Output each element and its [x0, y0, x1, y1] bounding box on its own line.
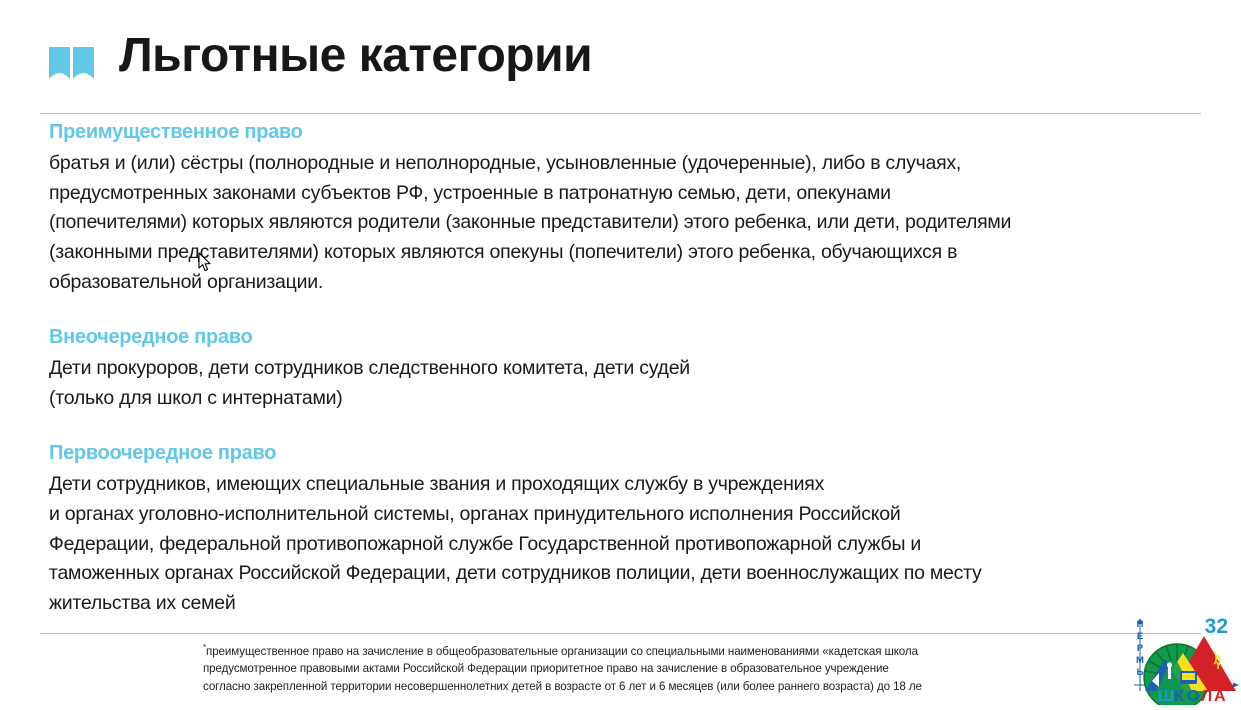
- slide-header: Льготные категории: [0, 0, 1241, 100]
- svg-text:Л: Л: [1201, 688, 1212, 705]
- section-heading-priority: Первоочередное право: [49, 439, 1209, 468]
- logo-word: Ш К О Л А: [1158, 688, 1226, 705]
- page-title: Льготные категории: [119, 27, 592, 85]
- logo-city: П Е Р М Ь: [1136, 619, 1144, 678]
- school-32-perm-logo: 32 П Е Р М Ь Ш К О Л А: [1132, 615, 1241, 705]
- svg-text:Р: Р: [1137, 643, 1144, 654]
- slide-body: Преимущественное право братья и (или) сё…: [49, 118, 1209, 619]
- section-extraordinary-right: Внеочередное право Дети прокуроров, дети…: [49, 323, 1209, 413]
- svg-text:А: А: [1214, 688, 1226, 705]
- section-preferential-right: Преимущественное право братья и (или) сё…: [49, 118, 1209, 297]
- svg-text:К: К: [1174, 688, 1184, 705]
- header-divider: [40, 113, 1201, 114]
- svg-text:Е: Е: [1137, 631, 1143, 642]
- section-body-priority: Дети сотрудников, имеющих специальные зв…: [49, 470, 1209, 618]
- footnote-text: преимущественное право на зачисление в о…: [203, 645, 922, 693]
- svg-text:П: П: [1137, 619, 1144, 630]
- section-body-preferential: братья и (или) сёстры (полнородные и неп…: [49, 149, 1209, 297]
- open-book-icon: [48, 46, 95, 86]
- logo-number: 32: [1205, 615, 1228, 638]
- svg-text:Ь: Ь: [1137, 667, 1144, 678]
- section-heading-preferential: Преимущественное право: [49, 118, 1209, 147]
- section-heading-extraordinary: Внеочередное право: [49, 323, 1209, 352]
- section-body-extraordinary: Дети прокуроров, дети сотрудников следст…: [49, 354, 1209, 413]
- footer-divider: [40, 633, 1201, 634]
- footnote: *преимущественное право на зачисление в …: [203, 642, 1183, 696]
- section-priority-right: Первоочередное право Дети сотрудников, и…: [49, 439, 1209, 618]
- svg-text:Ш: Ш: [1158, 688, 1174, 705]
- svg-text:О: О: [1187, 688, 1199, 705]
- svg-text:М: М: [1136, 655, 1144, 666]
